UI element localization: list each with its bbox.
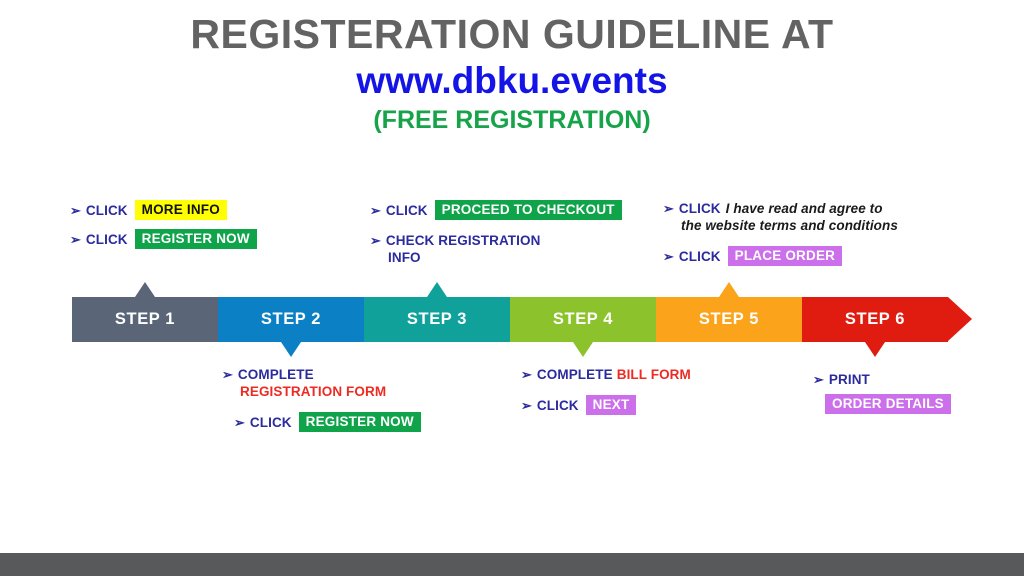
annotation-line: ➢ CLICK MORE INFO (70, 200, 257, 220)
annotation-line: ORDER DETAILS (813, 394, 951, 414)
annotation-line: ➢ COMPLETE (222, 366, 421, 383)
annotation-line: ➢ CHECK REGISTRATION (370, 232, 622, 249)
step-segment-5[interactable]: STEP 5 (656, 297, 802, 342)
annotation-block: ➢ CLICK I have read and agree to the web… (663, 200, 898, 234)
pointer-tail-up (427, 282, 447, 297)
annotation-line: ➢ CLICK REGISTER NOW (222, 412, 421, 432)
annotations-step-3: ➢ CLICK PROCEED TO CHECKOUT ➢ CHECK REGI… (370, 200, 622, 271)
annotation-keyword: CLICK (250, 414, 292, 431)
annotation-keyword: CHECK REGISTRATION (386, 232, 541, 249)
annotation-line: ➢ CLICK PROCEED TO CHECKOUT (370, 200, 622, 220)
annotation-keyword: CLICK (386, 202, 428, 219)
step-label: STEP 1 (115, 310, 175, 329)
register-now-button[interactable]: REGISTER NOW (135, 229, 257, 249)
annotation-line: ➢ CLICK NEXT (521, 395, 691, 415)
step-segment-3[interactable]: STEP 3 (364, 297, 510, 342)
annotation-keyword: PRINT (829, 371, 870, 388)
bullet-arrow-icon: ➢ (663, 248, 674, 265)
bullet-arrow-icon: ➢ (70, 202, 81, 219)
page-subtitle: (FREE REGISTRATION) (0, 105, 1024, 135)
terms-checkbox-label-continued[interactable]: the website terms and conditions (663, 217, 898, 234)
process-steps-bar: STEP 1 STEP 2 STEP 3 STEP 4 STEP 5 STEP … (72, 297, 948, 342)
step-label: STEP 6 (845, 310, 905, 329)
bullet-arrow-icon: ➢ (70, 231, 81, 248)
step-label: STEP 5 (699, 310, 759, 329)
annotation-keyword: CLICK (86, 231, 128, 248)
step-label: STEP 2 (261, 310, 321, 329)
bullet-arrow-icon: ➢ (370, 232, 381, 249)
annotation-keyword: CLICK (679, 200, 721, 217)
step-segment-4[interactable]: STEP 4 (510, 297, 656, 342)
step-label: STEP 3 (407, 310, 467, 329)
pointer-tail-down (573, 342, 593, 357)
bullet-arrow-icon: ➢ (370, 202, 381, 219)
bullet-arrow-icon: ➢ (521, 366, 532, 383)
proceed-to-checkout-button[interactable]: PROCEED TO CHECKOUT (435, 200, 622, 220)
annotation-line: ➢ CLICK I have read and agree to (663, 200, 898, 217)
bill-form-label: BILL FORM (617, 366, 691, 383)
bullet-arrow-icon: ➢ (234, 414, 245, 431)
website-url[interactable]: www.dbku.events (0, 58, 1024, 104)
annotation-line: ➢ COMPLETE BILL FORM (521, 366, 691, 383)
annotation-subline: INFO (370, 249, 622, 266)
step-segment-1[interactable]: STEP 1 (72, 297, 218, 342)
step-segment-2[interactable]: STEP 2 (218, 297, 364, 342)
step-label: STEP 4 (553, 310, 613, 329)
place-order-button[interactable]: PLACE ORDER (728, 246, 842, 266)
bullet-arrow-icon: ➢ (663, 200, 674, 217)
annotations-step-1: ➢ CLICK MORE INFO ➢ CLICK REGISTER NOW (70, 200, 257, 254)
annotations-step-6: ➢ PRINT ORDER DETAILS (813, 371, 951, 419)
annotation-line: ➢ CLICK REGISTER NOW (70, 229, 257, 249)
annotation-keyword: CLICK (679, 248, 721, 265)
annotation-block: ➢ COMPLETE REGISTRATION FORM (222, 366, 421, 400)
arrow-head-icon (948, 297, 972, 341)
pointer-tail-down (281, 342, 301, 357)
footer-bar (0, 553, 1024, 576)
step-segment-6[interactable]: STEP 6 (802, 297, 948, 342)
annotation-line: ➢ CLICK PLACE ORDER (663, 246, 898, 266)
annotation-keyword: COMPLETE (537, 366, 613, 383)
annotation-line: ➢ PRINT (813, 371, 951, 388)
annotation-keyword: CLICK (86, 202, 128, 219)
bullet-arrow-icon: ➢ (813, 371, 824, 388)
register-now-button[interactable]: REGISTER NOW (299, 412, 421, 432)
annotations-step-2: ➢ COMPLETE REGISTRATION FORM ➢ CLICK REG… (222, 366, 421, 437)
annotation-keyword: COMPLETE (238, 366, 314, 383)
pointer-tail-down (865, 342, 885, 357)
annotations-step-5: ➢ CLICK I have read and agree to the web… (663, 200, 898, 271)
order-details-button[interactable]: ORDER DETAILS (825, 394, 951, 414)
annotations-step-4: ➢ COMPLETE BILL FORM ➢ CLICK NEXT (521, 366, 691, 420)
title-block: REGISTERATION GUIDELINE AT www.dbku.even… (0, 8, 1024, 135)
annotation-block: ➢ CHECK REGISTRATION INFO (370, 232, 622, 266)
next-button[interactable]: NEXT (586, 395, 637, 415)
pointer-tail-up (719, 282, 739, 297)
terms-checkbox-label[interactable]: I have read and agree to (726, 200, 883, 217)
bullet-arrow-icon: ➢ (222, 366, 233, 383)
more-info-button[interactable]: MORE INFO (135, 200, 227, 220)
registration-form-label: REGISTRATION FORM (222, 383, 421, 400)
pointer-tail-up (135, 282, 155, 297)
page-title: REGISTERATION GUIDELINE AT (0, 8, 1024, 60)
annotation-keyword: CLICK (537, 397, 579, 414)
bullet-arrow-icon: ➢ (521, 397, 532, 414)
